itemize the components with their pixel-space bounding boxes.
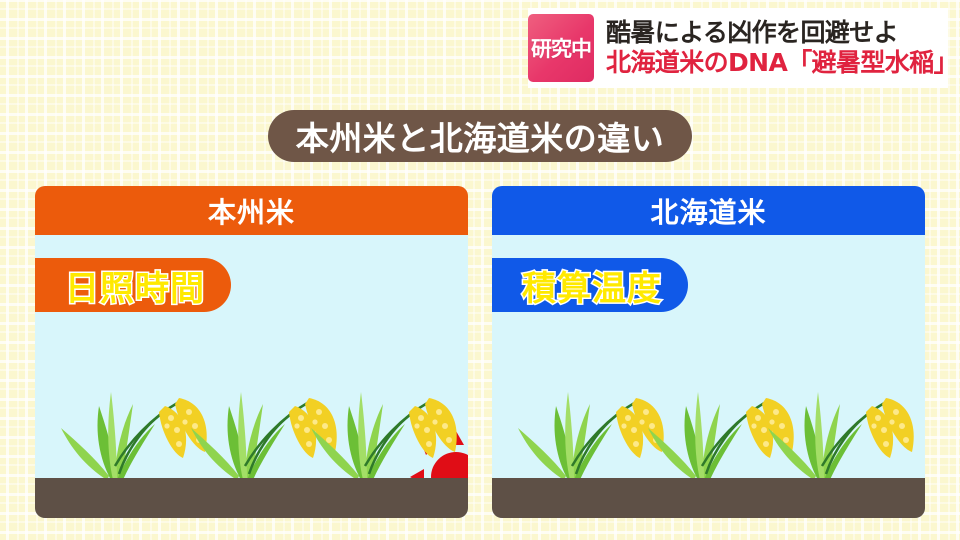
panel-header-label-honshu: 本州米: [208, 191, 295, 231]
soil-band-right: [492, 478, 925, 518]
panel-header-honshu: 本州米: [35, 186, 468, 235]
soil-band-left: [35, 478, 468, 518]
status-badge: 研究中: [528, 14, 594, 82]
headline-banner: 研究中 酷暑による凶作を回避せよ 北海道米のDNA「避暑型水稲」: [528, 8, 948, 88]
rice-plants-left: [35, 362, 468, 492]
headline-secondary: 北海道米のDNA「避暑型水稲」: [606, 49, 958, 78]
metric-tag-label-accumulated-temperature: 積算温度: [522, 261, 662, 310]
panel-hokkaido-rice: 北海道米 積算温度: [492, 186, 925, 518]
panel-honshu-rice: 本州米 日照時間: [35, 186, 468, 518]
infographic-canvas: 研究中 酷暑による凶作を回避せよ 北海道米のDNA「避暑型水稲」 本州米と北海道…: [0, 0, 960, 540]
metric-tag-sunlight-hours: 日照時間: [35, 258, 231, 312]
panel-header-label-hokkaido: 北海道米: [650, 191, 766, 231]
page-title: 本州米と北海道米の違い: [268, 110, 692, 162]
panel-header-hokkaido: 北海道米: [492, 186, 925, 235]
metric-tag-label-sunlight-hours: 日照時間: [65, 261, 205, 310]
rice-plants-right: [492, 362, 925, 492]
headline-primary: 酷暑による凶作を回避せよ: [606, 19, 958, 48]
page-title-text: 本州米と北海道米の違い: [296, 112, 665, 160]
metric-tag-accumulated-temperature: 積算温度: [492, 258, 688, 312]
headline-text-group: 酷暑による凶作を回避せよ 北海道米のDNA「避暑型水稲」: [594, 8, 958, 88]
